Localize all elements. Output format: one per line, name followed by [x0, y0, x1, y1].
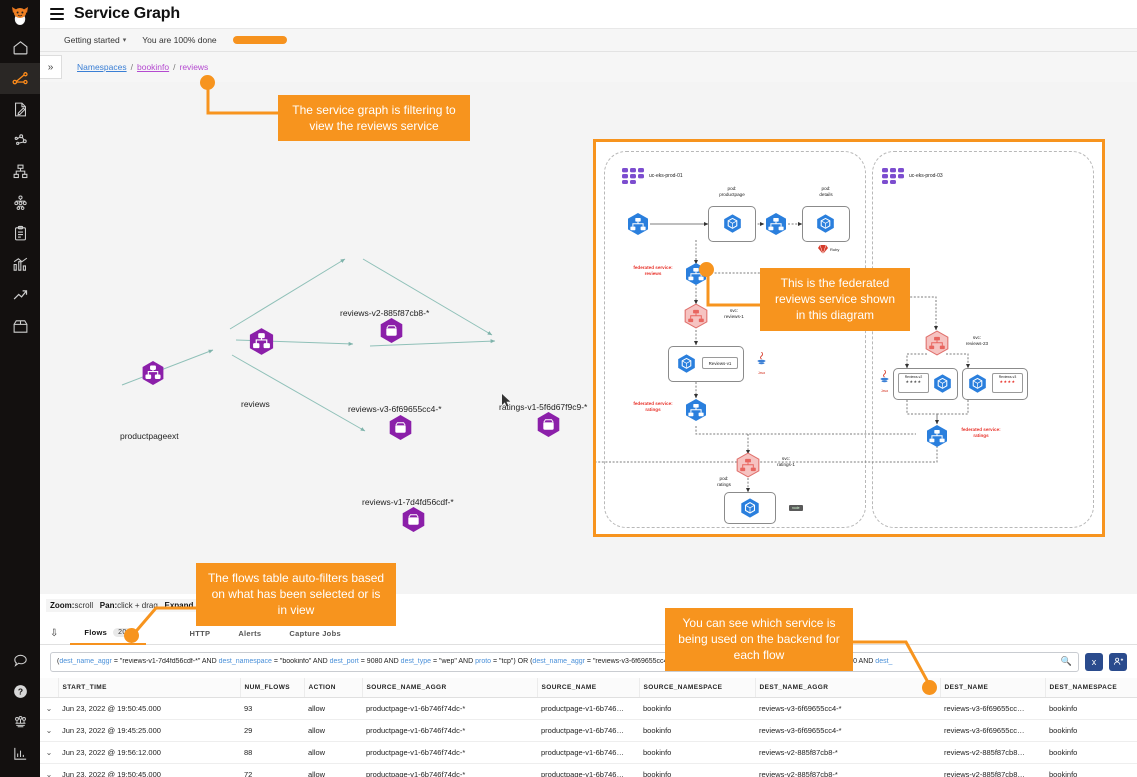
graph-node-label-productpageext: productpageext: [120, 431, 179, 441]
getting-started-label: Getting started: [64, 35, 120, 45]
diagram-reviews-v3-chip: Reviews-v3 ★★★★: [992, 373, 1023, 393]
cell-dest-name: reviews-v2-885f87cb8…: [940, 742, 1045, 764]
clipboard-icon: [12, 225, 29, 242]
callout-dot-1: [200, 75, 215, 90]
diagram-pod-reviews-v1-icon: [676, 353, 697, 379]
cell-source-name: productpage-v1-6b746…: [537, 742, 639, 764]
trend-up-icon: [12, 287, 29, 304]
diagram-federated-ratings-right-label: federated service:ratings: [952, 427, 1010, 438]
diagram-pod-productpage-label: pod:productpage: [708, 186, 756, 197]
tigera-cat-logo[interactable]: [0, 0, 40, 32]
diagram-pod-details-icon: [815, 213, 836, 239]
page-title: Service Graph: [74, 5, 180, 23]
java-badge-label-2: Java: [879, 389, 890, 393]
bar-chart-icon: [12, 256, 29, 273]
cell-dest-name-aggr: reviews-v3-6f69655cc4-*: [755, 698, 940, 720]
double-chevron-right-icon[interactable]: »: [40, 55, 62, 79]
graph-node-reviews-v1[interactable]: [401, 506, 426, 538]
diagram-pod-ratings-icon: [739, 497, 761, 524]
cell-action: allow: [304, 698, 362, 720]
diagram-svc-reviews-23-label: svc:reviews-23: [954, 335, 1000, 346]
diagram-pod-reviews-v2-icon: [932, 373, 953, 399]
chat-bubble-icon: [12, 652, 29, 669]
table-header-source-name-aggr[interactable]: SOURCE_NAME_AGGR: [362, 678, 537, 698]
cell-source-name: productpage-v1-6b746…: [537, 720, 639, 742]
cell-source-name: productpage-v1-6b746…: [537, 764, 639, 777]
chevron-down-icon[interactable]: ⌄: [40, 720, 58, 742]
tab-capture-jobs-label: Capture Jobs: [289, 629, 341, 638]
tab-alerts-label: Alerts: [238, 629, 261, 638]
graph-node-productpageext[interactable]: [141, 360, 165, 391]
home-icon: [12, 39, 29, 56]
table-row[interactable]: ⌄Jun 23, 2022 @ 19:50:45.00093allowprodu…: [40, 698, 1137, 720]
cell-source-namespace: bookinfo: [639, 742, 755, 764]
diagram-federated-ratings-right-icon: [925, 424, 949, 453]
metrics-icon: [12, 745, 29, 762]
graph-node-reviews-v3[interactable]: [388, 414, 413, 446]
cell-dest-name-aggr: reviews-v3-6f69655cc4-*: [755, 720, 940, 742]
cell-source-namespace: bookinfo: [639, 764, 755, 777]
table-header-start-time[interactable]: START_TIME: [58, 678, 240, 698]
cell-action: allow: [304, 720, 362, 742]
getting-started-dropdown[interactable]: Getting started ▾: [64, 35, 126, 45]
diagram-pod-productpage-icon: [722, 213, 743, 239]
ruby-badge-label: Ruby: [830, 247, 839, 252]
cell-source-name: productpage-v1-6b746…: [537, 698, 639, 720]
sidebar-item-service-graph[interactable]: [0, 63, 40, 94]
graph-node-label-reviews: reviews: [241, 399, 270, 409]
mouse-cursor: [502, 394, 511, 412]
cell-start-time: Jun 23, 2022 @ 19:50:45.000: [58, 764, 240, 777]
hierarchy-icon: [12, 194, 29, 211]
graph-node-reviews[interactable]: [248, 327, 275, 361]
table-row[interactable]: ⌄Jun 23, 2022 @ 19:56:12.00088allowprodu…: [40, 742, 1137, 764]
cell-dest-name: reviews-v2-885f87cb8…: [940, 764, 1045, 777]
cell-dest-name-aggr: reviews-v2-885f87cb8-*: [755, 742, 940, 764]
cell-start-time: Jun 23, 2022 @ 19:50:45.000: [58, 698, 240, 720]
breadcrumb-item-reviews: reviews: [180, 62, 209, 72]
magnifier-icon[interactable]: 🔍: [1061, 656, 1072, 667]
callout-service-graph-filter: The service graph is filtering to view t…: [278, 95, 470, 141]
diagram-pod-ratings-label: pod:ratings: [704, 476, 744, 487]
hint-zoom-label: Zoom:: [50, 601, 74, 610]
breadcrumb-separator: /: [131, 62, 133, 72]
cell-dest-namespace: bookinfo: [1045, 720, 1137, 742]
app-header: Service Graph: [40, 0, 1137, 29]
progress-text: You are 100% done: [142, 35, 216, 45]
progress-bar: [233, 36, 287, 44]
cell-source-name-aggr: productpage-v1-6b746f74dc-*: [362, 742, 537, 764]
sidebar-item-policies[interactable]: [0, 94, 40, 125]
breadcrumb: Namespaces/bookinfo/reviews: [77, 62, 208, 72]
sidebar-item-dashboards[interactable]: [0, 249, 40, 280]
cell-source-namespace: bookinfo: [639, 698, 755, 720]
graph-node-label-ratings-v1: ratings-v1-5f6d67f9c9-*: [499, 402, 587, 412]
breadcrumb-separator-2: /: [173, 62, 175, 72]
sidebar-item-timeline[interactable]: [0, 280, 40, 311]
callout-dot-3: [124, 628, 139, 643]
diagram-reviews-v1-chip: Reviews-v1: [702, 357, 738, 369]
diagram-federated-ratings-left-icon: [684, 398, 708, 427]
cell-start-time: Jun 23, 2022 @ 19:56:12.000: [58, 742, 240, 764]
cell-start-time: Jun 23, 2022 @ 19:45:25.000: [58, 720, 240, 742]
sidebar-item-help[interactable]: ?: [0, 676, 40, 707]
graph-node-label-reviews-v2: reviews-v2-885f87cb8-*: [340, 308, 429, 318]
question-circle-icon: ?: [12, 683, 29, 700]
cluster-icon: [12, 714, 29, 731]
cell-num-flows: 88: [240, 742, 304, 764]
callout-federated-reviews: This is the federated reviews service sh…: [760, 268, 910, 331]
svg-text:?: ?: [17, 687, 22, 697]
java-badge-icon-1: Java: [756, 352, 767, 375]
graph-node-label-reviews-v3: reviews-v3-6f69655cc4-*: [348, 404, 442, 414]
table-header-dest-name[interactable]: DEST_NAME: [940, 678, 1045, 698]
java-badge-label-1: Java: [756, 371, 767, 375]
hint-zoom-value: scroll: [74, 601, 93, 610]
cell-source-name-aggr: productpage-v1-6b746f74dc-*: [362, 764, 537, 777]
cell-source-namespace: bookinfo: [639, 720, 755, 742]
table-header-action[interactable]: ACTION: [304, 678, 362, 698]
getting-started-bar: Getting started ▾ You are 100% done: [40, 29, 1137, 52]
breadcrumb-item-bookinfo[interactable]: bookinfo: [137, 62, 169, 72]
hamburger-icon[interactable]: [50, 8, 64, 20]
sidebar-item-endpoints[interactable]: [0, 156, 40, 187]
table-header-num-flows[interactable]: NUM_FLOWS: [240, 678, 304, 698]
reviews-v2-stars: ★★★★: [901, 379, 926, 384]
callout-backend-service: You can see which service is being used …: [665, 608, 853, 671]
cell-dest-namespace: bookinfo: [1045, 698, 1137, 720]
table-header-source-namespace[interactable]: SOURCE_NAMESPACE: [639, 678, 755, 698]
clear-filter-button[interactable]: x: [1085, 653, 1103, 671]
sidebar-item-home[interactable]: [0, 32, 40, 63]
ruby-badge-icon: Ruby: [818, 245, 839, 254]
sidebar-item-cluster[interactable]: [0, 707, 40, 738]
cell-num-flows: 29: [240, 720, 304, 742]
breadcrumb-item-namespaces[interactable]: Namespaces: [77, 62, 127, 72]
service-graph-icon: [12, 70, 29, 87]
endpoints-icon: [12, 163, 29, 180]
sidebar-item-compliance[interactable]: [0, 218, 40, 249]
chevron-down-icon[interactable]: ⌄: [40, 698, 58, 720]
diagram-federated-reviews-label: federated service:reviews: [624, 265, 682, 276]
sidebar-item-nodes[interactable]: [0, 125, 40, 156]
diagram-svc-reviews-23-icon: [924, 330, 950, 361]
diagram-details-service-icon: [764, 212, 788, 241]
diagram-entry-service-icon: [626, 212, 650, 241]
cell-num-flows: 72: [240, 764, 304, 777]
callout-flows-autofilter: The flows table auto-filters based on wh…: [196, 563, 396, 626]
table-row[interactable]: ⌄Jun 23, 2022 @ 19:50:45.00072allowprodu…: [40, 764, 1137, 777]
callout-dot-2: [699, 262, 714, 277]
filter-bar: (dest_name_aggr = "reviews-v1-7d4fd56cdf…: [40, 645, 1137, 678]
cell-action: allow: [304, 764, 362, 777]
chevron-down-icon[interactable]: ⌄: [40, 742, 58, 764]
cell-dest-namespace: bookinfo: [1045, 742, 1137, 764]
diagram-federated-ratings-left-label: federated service:ratings: [624, 401, 682, 412]
graph-node-ratings-v1[interactable]: [536, 411, 561, 443]
diagram-reviews-v2-chip: Reviews-v2 ★★★★: [898, 373, 929, 393]
diagram-svc-ratings-1-label: svc:ratings-1: [766, 456, 806, 467]
table-row[interactable]: ⌄Jun 23, 2022 @ 19:45:25.00029allowprodu…: [40, 720, 1137, 742]
cell-dest-namespace: bookinfo: [1045, 764, 1137, 777]
diagram-pod-reviews-v3-icon: [967, 373, 988, 399]
cell-num-flows: 93: [240, 698, 304, 720]
save-filter-icon[interactable]: [1109, 653, 1127, 671]
java-badge-icon-2: Java: [879, 370, 890, 393]
sidebar-item-metrics[interactable]: [0, 738, 40, 769]
chevron-down-icon: ▾: [123, 36, 127, 44]
table-header-dest-namespace[interactable]: DEST_NAMESPACE: [1045, 678, 1137, 698]
box-icon: [12, 318, 29, 335]
node-badge: node: [789, 505, 803, 511]
left-nav-rail: ?: [0, 0, 40, 777]
table-header-expander: [40, 678, 58, 698]
network-nodes-icon: [12, 132, 29, 149]
reviews-v3-stars: ★★★★: [995, 379, 1020, 384]
sidebar-item-hierarchy[interactable]: [0, 187, 40, 218]
cell-action: allow: [304, 742, 362, 764]
table-header-row: START_TIME NUM_FLOWS ACTION SOURCE_NAME_…: [40, 678, 1137, 698]
cell-dest-name-aggr: reviews-v2-885f87cb8-*: [755, 764, 940, 777]
graph-node-reviews-v2[interactable]: [379, 317, 404, 349]
sidebar-item-packages[interactable]: [0, 311, 40, 342]
cell-source-name-aggr: productpage-v1-6b746f74dc-*: [362, 720, 537, 742]
tab-flows-label: Flows: [84, 628, 107, 637]
table-header-source-name[interactable]: SOURCE_NAME: [537, 678, 639, 698]
flows-table[interactable]: START_TIME NUM_FLOWS ACTION SOURCE_NAME_…: [40, 678, 1137, 777]
chevron-down-icon[interactable]: ⌄: [40, 764, 58, 777]
cell-dest-name: reviews-v3-6f69655cc…: [940, 720, 1045, 742]
cell-dest-name: reviews-v3-6f69655cc…: [940, 698, 1045, 720]
cell-source-name-aggr: productpage-v1-6b746f74dc-*: [362, 698, 537, 720]
sidebar-item-support-chat[interactable]: [0, 645, 40, 676]
hint-pan-label: Pan:: [100, 601, 117, 610]
graph-node-label-reviews-v1: reviews-v1-7d4fd56cdf-*: [362, 497, 454, 507]
callout-dot-4: [922, 680, 937, 695]
diagram-pod-details-label: pod:details: [802, 186, 850, 197]
double-chevron-down-icon[interactable]: ⇩: [50, 628, 58, 639]
policy-edit-icon: [12, 101, 29, 118]
architecture-diagram-panel: uc-eks-prod-01 uc-eks-prod-03: [593, 139, 1105, 537]
